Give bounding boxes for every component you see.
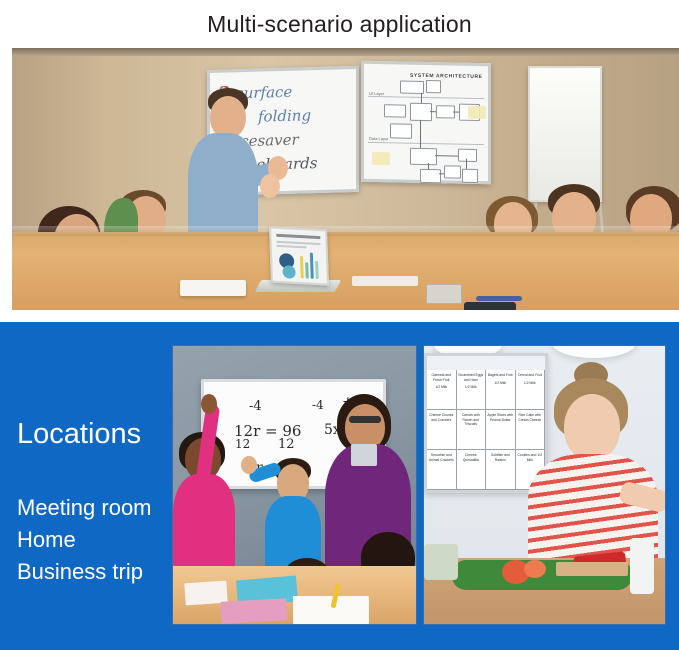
architecture-sticky-note — [372, 152, 390, 165]
meal-cell: Apple Slices with Peanut Butter — [486, 410, 516, 450]
meal-cell: Cereal and Fruit1/2 Milk — [516, 370, 546, 410]
meal-food: Cookies and 1/2 Milk — [517, 453, 542, 462]
head — [564, 394, 620, 460]
architecture-lane-label-data: Data Layer — [369, 136, 389, 141]
architecture-box — [390, 123, 412, 138]
flipchart-easel — [528, 66, 602, 202]
locations-heading: Locations — [17, 419, 141, 449]
meal-food: Carrots with Ranch and Triscuits — [462, 413, 480, 426]
remote-control — [426, 284, 462, 304]
whiteboard-panel-right: SYSTEM ARCHITECTURE UI Layer Data Layer — [361, 61, 491, 184]
architecture-arrow — [466, 159, 467, 169]
architecture-arrow — [420, 120, 421, 148]
whiteboard-word-folding: folding — [258, 106, 311, 125]
potted-herb — [424, 544, 458, 580]
meal-cell: Oatmeal and Fresh Fruit1/2 Milk — [427, 370, 457, 410]
meal-cell: Cheese Chunks and Crackers — [427, 410, 457, 450]
laptop-screen — [269, 226, 329, 285]
meal-food: Cheese Quesadilla — [463, 453, 479, 462]
papers — [352, 276, 418, 286]
architecture-box — [410, 148, 437, 166]
worksheet-pink — [220, 598, 287, 623]
meal-drink: 1/2 Milk — [517, 381, 544, 386]
meal-food: Oatmeal and Fresh Fruit — [432, 373, 451, 382]
architecture-box — [420, 169, 441, 183]
architecture-box — [410, 103, 432, 121]
meal-cell: Goldfish and Raisins — [486, 450, 516, 490]
laptop-chart-line — [277, 245, 307, 249]
architecture-diagram-title: SYSTEM ARCHITECTURE — [410, 73, 483, 80]
architecture-box — [426, 80, 441, 93]
equation-top-mid: -4 — [312, 398, 324, 412]
meal-drink: 1/2 Milk — [428, 385, 455, 390]
meal-cell: Bagels and Fruit1/2 Milk — [486, 370, 516, 410]
locations-blue-panel: Locations Meeting room Home Business tri… — [0, 322, 679, 650]
architecture-arrow — [439, 173, 444, 174]
architecture-sticky-note — [468, 106, 486, 119]
architecture-box — [462, 169, 478, 183]
architecture-lane-divider-1 — [368, 96, 484, 99]
tomato — [524, 560, 546, 578]
architecture-arrow — [435, 155, 458, 156]
meal-planner-header — [427, 356, 545, 370]
laptop-chart-bar — [310, 253, 314, 279]
pitcher — [630, 538, 654, 594]
architecture-lane-divider-2 — [368, 142, 484, 145]
classroom-photo: -4 -4 +10 12r = 96 12 12 r = 8 5x = 20 x… — [172, 345, 417, 625]
pen — [476, 296, 522, 301]
architecture-box — [444, 165, 461, 178]
meal-planner-whiteboard: Oatmeal and Fresh Fruit1/2 Milk Scramble… — [424, 353, 548, 493]
meal-food: Cheese Chunks and Crackers — [429, 413, 453, 422]
meal-food: Cereal and Fruit — [518, 373, 542, 377]
meal-food: Bagels and Fruit — [488, 373, 513, 377]
location-item-business-trip: Business trip — [17, 556, 152, 588]
meal-food: Rice Cake with Cream Cheese — [518, 413, 541, 422]
meal-food: Apple Slices with Peanut Butter — [487, 413, 513, 422]
equation-left-denominator-2: 12 — [278, 437, 295, 452]
architecture-box — [458, 149, 477, 162]
meal-cell: Cheese Quesadilla — [457, 450, 487, 490]
meal-drink: 1/2 Milk — [458, 385, 485, 390]
hand — [241, 456, 257, 474]
page-title: Multi-scenario application — [0, 0, 679, 47]
presenter-head — [210, 96, 246, 138]
architecture-arrow — [453, 112, 459, 113]
meal-drink: 1/2 Milk — [487, 381, 514, 386]
kitchen-photo: Oatmeal and Fresh Fruit1/2 Milk Scramble… — [423, 345, 666, 625]
meal-food: Smoothie and Animal Crackers — [429, 453, 454, 462]
architecture-arrow — [428, 163, 429, 169]
body — [173, 474, 235, 570]
meal-cell: Scrambled Eggs and Ham1/2 Milk — [457, 370, 487, 410]
equation-left-denominator-1: 12 — [235, 437, 250, 451]
architecture-box — [384, 104, 406, 117]
meal-cell: Smoothie and Animal Crackers — [427, 450, 457, 490]
equation-top-left: -4 — [249, 399, 262, 414]
cutting-board — [556, 562, 628, 576]
laptop-chart-title — [276, 234, 320, 239]
notebook — [180, 280, 246, 296]
meal-cell: Carrots with Ranch and Triscuits — [457, 410, 487, 450]
conference-table — [12, 232, 679, 310]
meal-food: Scrambled Eggs and Ham — [458, 373, 483, 382]
collar — [351, 444, 377, 466]
laptop-chart-pie — [282, 265, 295, 279]
laptop-chart-bar — [305, 262, 309, 278]
meal-food: Goldfish and Raisins — [491, 453, 510, 462]
eyeglasses — [349, 416, 381, 423]
laptop-chart-bar — [300, 256, 304, 278]
location-item-meeting-room: Meeting room — [17, 492, 152, 524]
tablet — [464, 302, 516, 310]
architecture-arrow — [421, 93, 422, 103]
presenter-hand — [260, 174, 280, 198]
meal-cell: Rice Cake with Cream Cheese — [516, 410, 546, 450]
architecture-arrow — [430, 111, 436, 112]
locations-list: Meeting room Home Business trip — [17, 492, 152, 588]
laptop-chart-bar — [315, 261, 319, 279]
hand — [201, 394, 217, 414]
hero-meeting-room-photo: 3 surface folding spacesaver hiteboards … — [12, 48, 679, 310]
location-item-home: Home — [17, 524, 152, 556]
